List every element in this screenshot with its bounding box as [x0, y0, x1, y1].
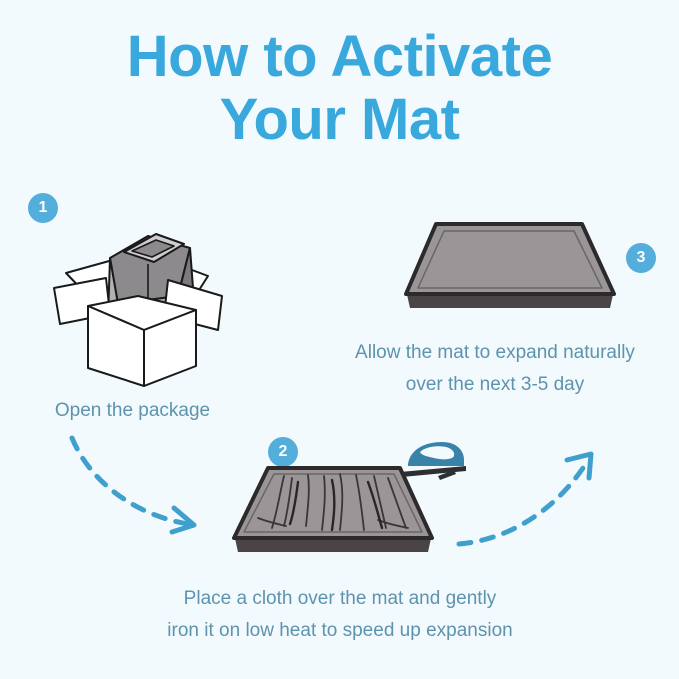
step-1-caption: Open the package: [0, 395, 265, 427]
step-3-caption: Allow the mat to expand naturally over t…: [310, 337, 679, 401]
step-badge-3: 3: [626, 243, 656, 273]
page-title: How to Activate Your Mat: [0, 26, 679, 151]
flat-mat-icon: [400, 218, 620, 323]
step-2-caption-line-2: iron it on low heat to speed up expansio…: [105, 615, 575, 647]
step-2-caption-line-1: Place a cloth over the mat and gently: [105, 583, 575, 615]
step-3-caption-line-2: over the next 3-5 day: [310, 369, 679, 401]
cardboard-box-icon: [48, 218, 228, 393]
step-1-caption-line-1: Open the package: [0, 395, 265, 427]
dashed-curved-arrow-up-right-icon: [455, 440, 620, 560]
dashed-curved-arrow-down-right-icon: [62, 428, 242, 548]
infographic-canvas: How to Activate Your Mat 1: [0, 0, 679, 679]
step-2-caption: Place a cloth over the mat and gently ir…: [105, 583, 575, 647]
step-3-caption-line-1: Allow the mat to expand naturally: [310, 337, 679, 369]
page-title-line-1: How to Activate: [0, 26, 679, 89]
wrinkled-mat-icon: [228, 460, 438, 565]
page-title-line-2: Your Mat: [0, 89, 679, 152]
